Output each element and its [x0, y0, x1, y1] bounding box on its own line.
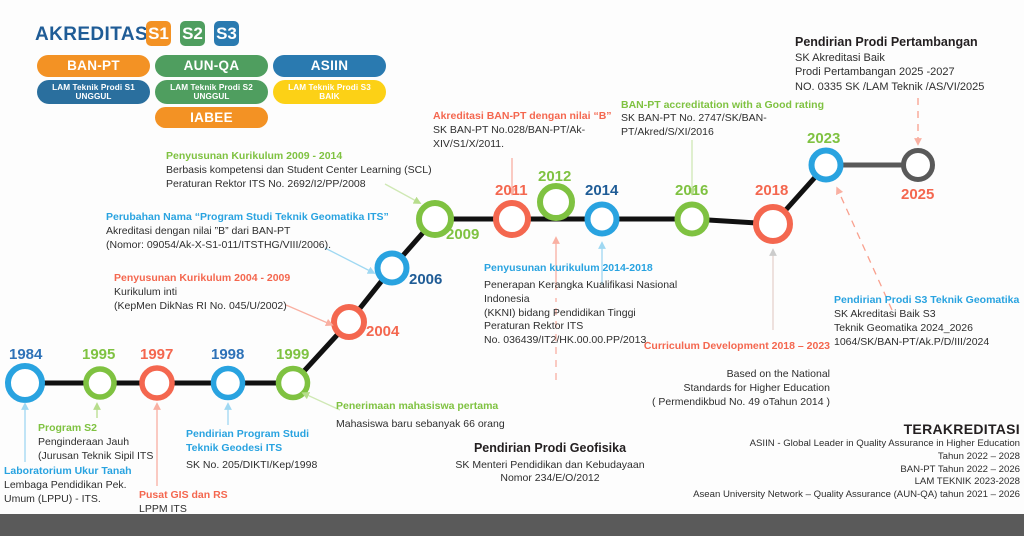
note-akreditasi-b: Akreditasi BAN-PT dengan nilai “B” SK BA…	[433, 110, 633, 152]
note-geodesi-head2: Teknik Geodesi ITS	[186, 442, 376, 456]
note-prodi-pertambangan: Pendirian Prodi Pertambangan SK Akredita…	[795, 34, 1024, 94]
note-lab-head: Laboratorium Ukur Tanah	[4, 465, 184, 479]
note-k2014-body3: Peraturan Rektor ITS	[484, 320, 714, 334]
year-label-2012: 2012	[538, 168, 571, 185]
note-s3-body3: 1064/SK/BAN-PT/Ak.P/D/III/2024	[834, 336, 1024, 350]
note-k2004-body2: (KepMen DikNas RI No. 045/U/2002)	[114, 300, 344, 314]
note-penerimaan-mahasiswa: Penerimaan mahasiswa pertama Mahasiswa b…	[336, 400, 566, 432]
note-k2014-body2: (KKNI) bidang Pendidikan Tinggi	[484, 307, 714, 321]
note-k2009-body2: Peraturan Rektor ITS No. 2692/I2/PP/2008	[166, 178, 476, 192]
note-kurikulum-2014: Penyusunan kurikulum 2014-2018 Penerapan…	[484, 262, 714, 348]
node-2011[interactable]	[496, 203, 528, 235]
node-2012[interactable]	[540, 186, 572, 218]
note-prodi-s3: Pendirian Prodi S3 Teknik Geomatika SK A…	[834, 294, 1024, 349]
note-s3-body2: Teknik Geomatika 2024_2026	[834, 322, 1024, 336]
year-label-2025: 2025	[901, 186, 934, 203]
leader-1999	[305, 394, 340, 410]
note-k2009-body1: Berbasis kompetensi dan Student Center L…	[166, 164, 476, 178]
note-mhs-head: Penerimaan mahasiswa pertama	[336, 400, 566, 414]
terakreditasi-body2: Tahun 2022 – 2028	[630, 451, 1020, 464]
note-akrb-head: Akreditasi BAN-PT dengan nilai “B”	[433, 110, 633, 124]
note-curdev-body2: Standards for Higher Education	[590, 382, 830, 396]
note-curriculum-development: Curriculum Development 2018 – 2023 Based…	[590, 340, 830, 409]
year-label-1997: 1997	[140, 346, 173, 363]
node-2014[interactable]	[588, 205, 617, 234]
node-1984[interactable]	[8, 366, 42, 400]
terakreditasi-body5: Asean University Network – Quality Assur…	[630, 489, 1020, 502]
terakreditasi-body4: LAM TEKNIK 2023-2028	[630, 476, 1020, 489]
year-label-1999: 1999	[276, 346, 309, 363]
note-tambang-body1: SK Akreditasi Baik	[795, 51, 1024, 66]
terakreditasi-head: TERAKREDITASI	[630, 420, 1020, 438]
year-label-1984: 1984	[9, 346, 42, 363]
note-banpt-good-rating: BAN-PT accreditation with a Good rating …	[621, 99, 831, 140]
year-label-1998: 1998	[211, 346, 244, 363]
year-label-2006: 2006	[409, 271, 442, 288]
note-pusat-gis: Pusat GIS dan RS LPPM ITS	[139, 489, 299, 517]
infographic-canvas: AKREDITASI S1 S2 S3 BAN-PT AUN-QA ASIIN …	[0, 0, 1024, 536]
note-nama-body2: (Nomor: 09054/Ak-X-S1-011/ITSTHG/VIII/20…	[106, 239, 436, 253]
terakreditasi-body3: BAN-PT Tahun 2022 – 2026	[630, 464, 1020, 477]
note-tambang-head: Pendirian Prodi Pertambangan	[795, 34, 1024, 51]
node-2016[interactable]	[678, 205, 707, 234]
note-nama-head: Perubahan Nama “Program Studi Teknik Geo…	[106, 211, 436, 225]
note-curdev-body3: ( Permendikbud No. 49 oTahun 2014 )	[590, 396, 830, 410]
note-kurikulum-2004: Penyusunan Kurikulum 2004 - 2009 Kurikul…	[114, 272, 344, 314]
node-2018[interactable]	[756, 207, 790, 241]
note-tambang-body2: Prodi Pertambangan 2025 -2027	[795, 65, 1024, 80]
note-nama-body1: Akreditasi dengan nilai ”B” dari BAN-PT	[106, 225, 436, 239]
node-2023[interactable]	[812, 151, 841, 180]
node-1997[interactable]	[142, 368, 172, 398]
note-mhs-body1: Mahasiswa baru sebanyak 66 orang	[336, 418, 566, 432]
note-k2014-head: Penyusunan kurikulum 2014-2018	[484, 262, 714, 276]
note-s3-head: Pendirian Prodi S3 Teknik Geomatika	[834, 294, 1024, 308]
leader-2023	[838, 190, 892, 310]
note-geodesi-body1: SK No. 205/DIKTI/Kep/1998	[186, 459, 376, 473]
note-k2004-head: Penyusunan Kurikulum 2004 - 2009	[114, 272, 344, 286]
note-good-body2: PT/Akred/S/XI/2016	[621, 126, 831, 140]
bottom-bar	[0, 514, 1024, 536]
node-2006[interactable]	[378, 254, 407, 283]
note-good-body1: SK BAN-PT No. 2747/SK/BAN-	[621, 112, 831, 126]
note-perubahan-nama: Perubahan Nama “Program Studi Teknik Geo…	[106, 211, 436, 253]
note-k2009-head: Penyusunan Kurikulum 2009 - 2014	[166, 150, 476, 164]
terakreditasi-body1: ASIIN - Global Leader in Quality Assuran…	[630, 438, 1020, 451]
year-label-2004: 2004	[366, 323, 399, 340]
note-pendirian-geodesi: Pendirian Program Studi Teknik Geodesi I…	[186, 428, 376, 473]
note-k2004-body1: Kurikulum inti	[114, 286, 344, 300]
note-s3-body1: SK Akreditasi Baik S3	[834, 308, 1024, 322]
year-label-2016: 2016	[675, 182, 708, 199]
note-curdev-body1: Based on the National	[590, 368, 830, 382]
note-akrb-body1: SK BAN-PT No.028/BAN-PT/Ak-	[433, 124, 633, 138]
note-gis-head: Pusat GIS dan RS	[139, 489, 299, 503]
year-label-1995: 1995	[82, 346, 115, 363]
note-curdev-head: Curriculum Development 2018 – 2023	[590, 340, 830, 354]
note-good-head: BAN-PT accreditation with a Good rating	[621, 99, 831, 113]
note-akrb-body2: XIV/S1/X/2011.	[433, 138, 633, 152]
year-label-2018: 2018	[755, 182, 788, 199]
year-label-2014: 2014	[585, 182, 618, 199]
node-1995[interactable]	[86, 369, 114, 397]
year-label-2011: 2011	[495, 182, 528, 199]
note-tambang-body3: NO. 0335 SK /LAM Teknik /AS/VI/2025	[795, 80, 1024, 95]
node-1999[interactable]	[279, 369, 308, 398]
note-k2014-body1: Penerapan Kerangka Kualifikasi Nasional …	[484, 279, 714, 307]
year-label-2009: 2009	[446, 226, 479, 243]
node-2025[interactable]	[904, 151, 933, 180]
note-terakreditasi: TERAKREDITASI ASIIN - Global Leader in Q…	[630, 420, 1020, 502]
note-kurikulum-2009: Penyusunan Kurikulum 2009 - 2014 Berbasi…	[166, 150, 476, 192]
node-1998[interactable]	[214, 369, 243, 398]
